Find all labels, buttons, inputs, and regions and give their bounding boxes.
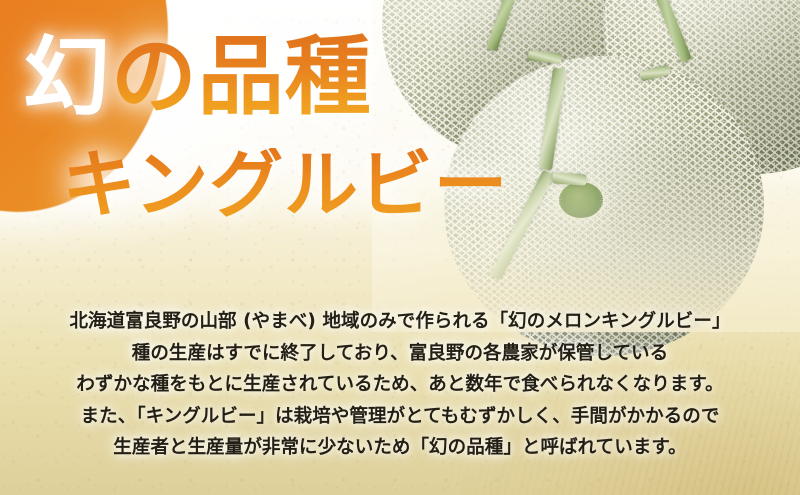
description-text: 北海道富良野の山部 (やまべ) 地域のみで作られる「幻のメロンキングルビー」 種…: [0, 306, 800, 464]
melon-stem-scar: [559, 182, 603, 218]
headline-line-1: 幻の品種: [24, 34, 371, 120]
headline-kanji-maboroshi: 幻: [24, 26, 111, 127]
description-line: 北海道富良野の山部 (やまべ) 地域のみで作られる「幻のメロンキングルビー」: [0, 306, 800, 338]
headline-line-2: キングルビー: [62, 148, 508, 222]
melon-stem-3-crossbar: [552, 172, 587, 185]
promo-banner: 幻の品種 キングルビー 北海道富良野の山部 (やまべ) 地域のみで作られる「幻の…: [0, 0, 800, 495]
headline-no-hinshu: の品種: [111, 26, 372, 127]
description-line: わずかな種をもとに生産されているため、あと数年で食べられなくなります。: [0, 369, 800, 401]
description-line: 種の生産はすでに終了しており、富良野の各農家が保管している: [0, 338, 800, 370]
description-line: また、「キングルビー」は栽培や管理がとてもむずかしく、手間がかかるので: [0, 401, 800, 433]
headline-block: 幻の品種 キングルビー: [0, 0, 520, 260]
description-line: 生産者と生産量が非常に少ないため「幻の品種」と呼ばれています。: [0, 432, 800, 464]
